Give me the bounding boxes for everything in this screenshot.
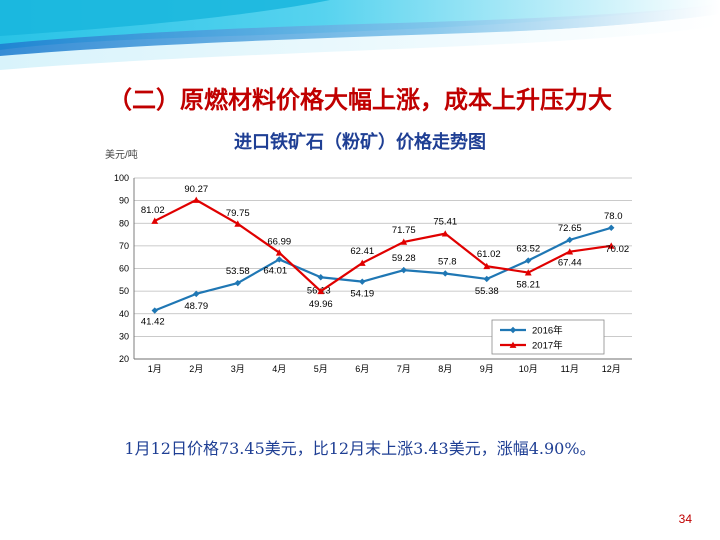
data-point-label: 59.28 xyxy=(392,253,416,264)
footnote-text: 1月12日价格73.45美元，比12月末上涨3.43美元，涨幅4.90%。 xyxy=(0,435,720,459)
data-point-label: 75.41 xyxy=(433,217,457,228)
data-point-label: 63.52 xyxy=(516,244,540,255)
x-axis-tick: 12月 xyxy=(602,364,621,374)
data-point-label: 53.58 xyxy=(226,266,250,277)
data-point-label: 55.38 xyxy=(475,286,499,297)
price-trend-chart: 20304050607080901001月2月3月4月5月6月7月8月9月10月… xyxy=(100,170,640,385)
axis-unit-label: 美元/吨 xyxy=(105,146,138,161)
x-axis-tick: 4月 xyxy=(272,364,286,374)
data-point-label: 72.65 xyxy=(558,223,582,234)
y-axis-tick: 40 xyxy=(119,309,129,319)
x-axis-tick: 9月 xyxy=(480,364,494,374)
data-point-label: 70.02 xyxy=(605,244,629,255)
x-axis-tick: 1月 xyxy=(148,364,162,374)
page-number: 34 xyxy=(679,512,692,526)
y-axis-tick: 90 xyxy=(119,196,129,206)
header-decoration xyxy=(0,0,720,72)
slide-title: （二）原燃材料价格大幅上涨，成本上升压力大 xyxy=(0,80,720,115)
x-axis-tick: 8月 xyxy=(438,364,452,374)
data-point-label: 54.19 xyxy=(350,289,374,300)
data-point-label: 41.42 xyxy=(141,317,165,328)
data-point-label: 58.21 xyxy=(516,280,540,291)
data-point-label: 67.44 xyxy=(558,258,582,269)
y-axis-tick: 80 xyxy=(119,218,129,228)
data-point-label: 64.01 xyxy=(263,265,287,276)
data-point-label: 90.27 xyxy=(184,184,208,195)
data-point-label: 71.75 xyxy=(392,225,416,236)
x-axis-tick: 3月 xyxy=(231,364,245,374)
data-point-label: 81.02 xyxy=(141,205,165,216)
y-axis-tick: 20 xyxy=(119,354,129,364)
y-axis-tick: 60 xyxy=(119,264,129,274)
data-point-label: 48.79 xyxy=(184,301,208,312)
data-point-label: 78.0 xyxy=(604,211,623,222)
x-axis-tick: 10月 xyxy=(519,364,538,374)
data-point-label: 49.96 xyxy=(309,299,333,310)
x-axis-tick: 11月 xyxy=(561,364,579,374)
legend-label: 2017年 xyxy=(532,340,563,352)
data-point-label: 79.75 xyxy=(226,208,250,219)
data-point-label: 57.8 xyxy=(438,256,457,267)
x-axis-tick: 7月 xyxy=(397,364,411,374)
x-axis-tick: 6月 xyxy=(355,364,369,374)
y-axis-tick: 100 xyxy=(114,173,129,183)
y-axis-tick: 30 xyxy=(119,331,129,341)
legend-label: 2016年 xyxy=(532,325,563,337)
data-point-label: 66.99 xyxy=(267,237,291,248)
y-axis-tick: 70 xyxy=(119,241,129,251)
data-point-label: 61.02 xyxy=(477,249,501,260)
y-axis-tick: 50 xyxy=(119,286,129,296)
x-axis-tick: 5月 xyxy=(314,364,328,374)
data-point-label: 62.41 xyxy=(350,246,374,257)
x-axis-tick: 2月 xyxy=(189,364,203,374)
